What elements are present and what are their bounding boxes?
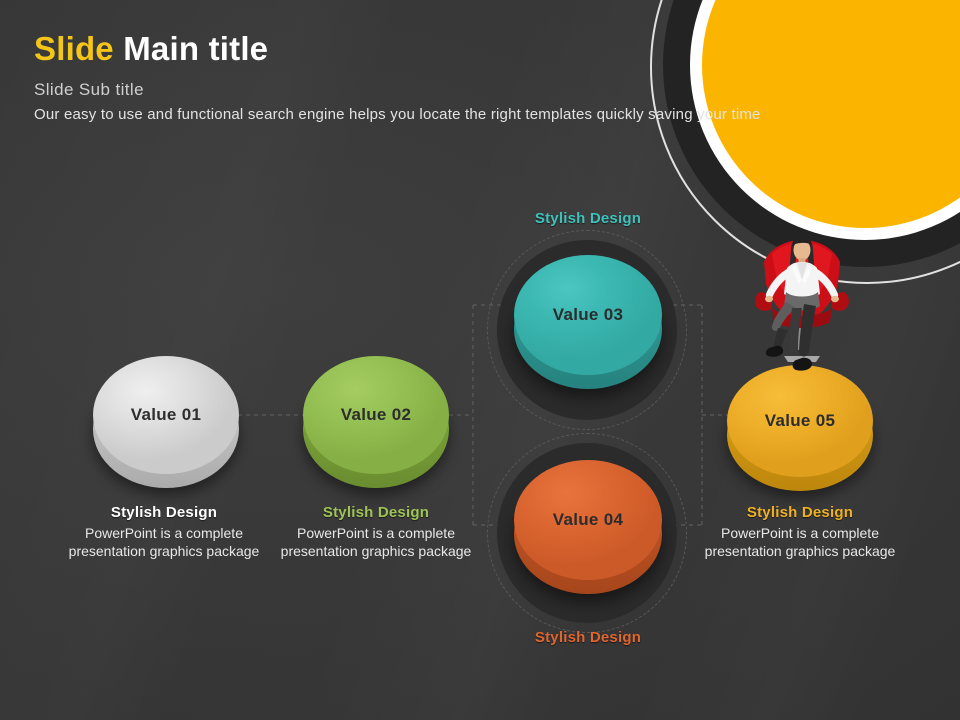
- disc-face-01: Value 01: [93, 356, 239, 474]
- caption-node-05: Stylish Design PowerPoint is a complete …: [694, 504, 906, 561]
- node-04-value-label: Value 04: [553, 510, 623, 530]
- caption-node-02: Stylish Design PowerPoint is a complete …: [270, 504, 482, 561]
- caption-title-02: Stylish Design: [270, 504, 482, 521]
- disc-face-04: Value 04: [514, 460, 662, 580]
- disc-value-04[interactable]: Value 04: [514, 460, 662, 580]
- node-05-value-label: Value 05: [765, 411, 835, 431]
- presentation-slide: Slide Main title Slide Sub title Our eas…: [0, 0, 960, 720]
- caption-body-02: PowerPoint is a complete presentation gr…: [270, 524, 482, 561]
- disc-value-03[interactable]: Value 03: [514, 255, 662, 375]
- caption-node-01: Stylish Design PowerPoint is a complete …: [58, 504, 270, 561]
- node-03-value-label: Value 03: [553, 305, 623, 325]
- disc-value-01[interactable]: Value 01: [93, 356, 239, 474]
- woman-in-armchair-illustration: [742, 232, 862, 392]
- node-01-value-label: Value 01: [131, 405, 201, 425]
- node-02-value-label: Value 02: [341, 405, 411, 425]
- caption-body-01: PowerPoint is a complete presentation gr…: [58, 524, 270, 561]
- caption-body-05: PowerPoint is a complete presentation gr…: [694, 524, 906, 561]
- disc-face-03: Value 03: [514, 255, 662, 375]
- caption-title-05: Stylish Design: [694, 504, 906, 521]
- disc-face-02: Value 02: [303, 356, 449, 474]
- caption-title-03: Stylish Design: [482, 210, 694, 227]
- disc-value-02[interactable]: Value 02: [303, 356, 449, 474]
- caption-title-04: Stylish Design: [482, 629, 694, 646]
- process-diagram: Value 01 Stylish Design PowerPoint is a …: [0, 0, 960, 720]
- caption-title-01: Stylish Design: [58, 504, 270, 521]
